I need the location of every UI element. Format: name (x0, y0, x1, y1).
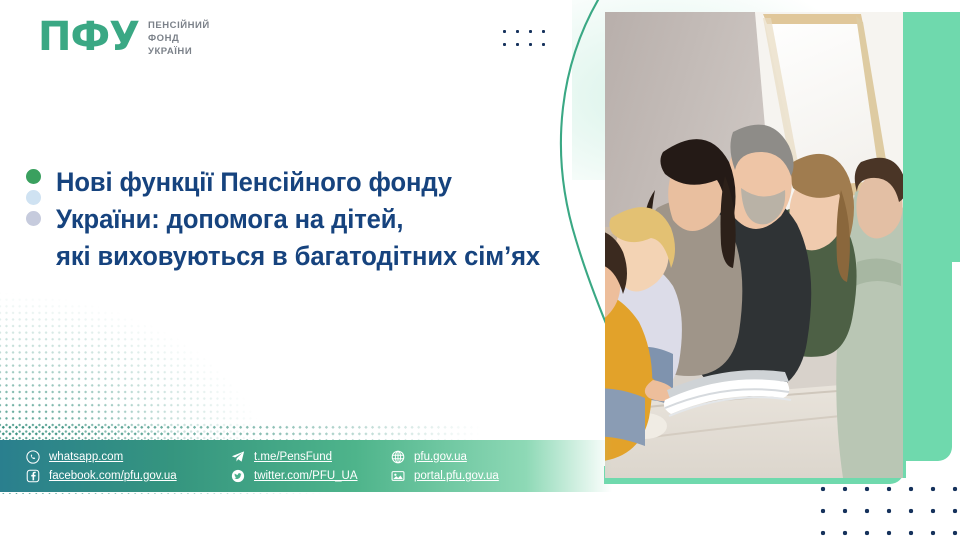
whatsapp-icon (26, 450, 40, 464)
headline-block: Нові функції Пенсійного фонду України: д… (26, 164, 558, 275)
contact-link-whatsapp[interactable]: whatsapp.com (26, 450, 231, 464)
bullet-dot-blue-icon (26, 190, 41, 205)
contact-columns: whatsapp.com facebook.com/pfu.gov.ua t.m… (0, 450, 612, 483)
headline-line-2: України: допомога на дітей, (56, 201, 540, 238)
page-title: Нові функції Пенсійного фонду України: д… (56, 164, 540, 275)
telegram-icon (231, 450, 245, 464)
contact-link-facebook[interactable]: facebook.com/pfu.gov.ua (26, 469, 231, 483)
hero-photo (605, 12, 903, 478)
logo-wordmark: ПЕНСІЙНИЙ ФОНД УКРАЇНИ (148, 18, 210, 57)
headline-bullet-dots (26, 164, 41, 275)
contact-label-telegram: t.me/PensFund (254, 450, 332, 464)
headline-line-3: які виховуються в багатодітних сім’ях (56, 238, 540, 275)
dot-grid-top-icon (498, 25, 550, 55)
contact-label-website: pfu.gov.ua (414, 450, 467, 464)
logo-line-1: ПЕНСІЙНИЙ (148, 20, 210, 31)
portal-icon (391, 469, 405, 483)
logo-line-2: ФОНД (148, 33, 210, 44)
contact-link-portal[interactable]: portal.pfu.gov.ua (391, 469, 571, 483)
dot-grid-bottom-icon (812, 478, 960, 538)
globe-icon (391, 450, 405, 464)
headline-line-1: Нові функції Пенсійного фонду (56, 164, 540, 201)
logo-mark: ПФУ (38, 17, 139, 57)
contact-column-2: t.me/PensFund twitter.com/PFU_UA (231, 450, 391, 483)
slide-canvas: ПФУ ПЕНСІЙНИЙ ФОНД УКРАЇНИ Нові функції … (0, 0, 960, 540)
contact-link-website[interactable]: pfu.gov.ua (391, 450, 571, 464)
pfu-logo: ПФУ ПЕНСІЙНИЙ ФОНД УКРАЇНИ (38, 17, 210, 57)
bullet-dot-gray-icon (26, 211, 41, 226)
contact-label-portal: portal.pfu.gov.ua (414, 469, 499, 483)
twitter-icon (231, 469, 245, 483)
facebook-icon (26, 469, 40, 483)
contact-label-facebook: facebook.com/pfu.gov.ua (49, 469, 177, 483)
contact-label-twitter: twitter.com/PFU_UA (254, 469, 358, 483)
logo-line-3: УКРАЇНИ (148, 46, 210, 57)
contact-column-3: pfu.gov.ua portal.pfu.gov.ua (391, 450, 571, 483)
contact-link-telegram[interactable]: t.me/PensFund (231, 450, 391, 464)
contact-label-whatsapp: whatsapp.com (49, 450, 123, 464)
contact-footer-bar: whatsapp.com facebook.com/pfu.gov.ua t.m… (0, 440, 612, 492)
contact-column-1: whatsapp.com facebook.com/pfu.gov.ua (26, 450, 231, 483)
contact-link-twitter[interactable]: twitter.com/PFU_UA (231, 469, 391, 483)
bullet-dot-green-icon (26, 169, 41, 184)
